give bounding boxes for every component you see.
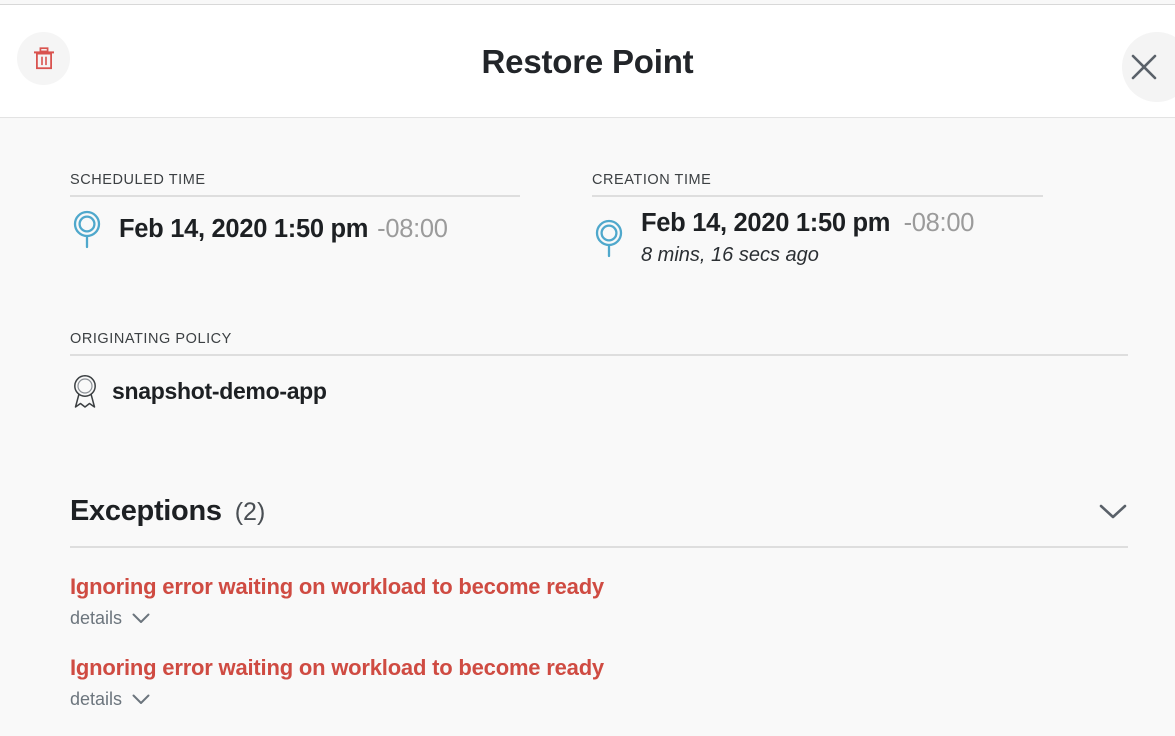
exception-details-label: details bbox=[70, 608, 122, 629]
exception-details-label: details bbox=[70, 689, 122, 710]
scheduled-time-value: Feb 14, 2020 1:50 pm bbox=[119, 215, 368, 244]
time-pin-icon bbox=[592, 218, 626, 258]
creation-time-label: CREATION TIME bbox=[592, 172, 1043, 195]
exception-details-toggle[interactable]: details bbox=[70, 689, 148, 710]
exception-item: Ignoring error waiting on workload to be… bbox=[70, 574, 1128, 629]
exception-item: Ignoring error waiting on workload to be… bbox=[70, 655, 1128, 710]
panel-body: SCHEDULED TIME Feb 14, 2020 1:50 pm -08:… bbox=[0, 119, 1175, 736]
chevron-down-icon[interactable] bbox=[1098, 503, 1128, 521]
chevron-down-icon bbox=[131, 693, 151, 706]
creation-time-value-row: Feb 14, 2020 1:50 pm -08:00 8 mins, 16 s… bbox=[592, 209, 1043, 267]
exceptions-header-toggle[interactable]: Exceptions (2) bbox=[70, 495, 1128, 546]
exception-details-toggle[interactable]: details bbox=[70, 608, 148, 629]
exceptions-title-wrap: Exceptions (2) bbox=[70, 495, 265, 528]
exception-message[interactable]: Ignoring error waiting on workload to be… bbox=[70, 574, 1128, 600]
scheduled-time-value-row: Feb 14, 2020 1:50 pm -08:00 bbox=[70, 209, 520, 249]
panel-header: Restore Point bbox=[0, 5, 1175, 118]
award-ribbon-icon bbox=[70, 373, 100, 409]
originating-policy-value-row: snapshot-demo-app bbox=[70, 373, 1128, 409]
exceptions-rule bbox=[70, 546, 1128, 548]
scheduled-time-label: SCHEDULED TIME bbox=[70, 172, 520, 195]
creation-time-field: CREATION TIME Feb 14, 2020 1:50 pm -08:0… bbox=[592, 172, 1043, 267]
scheduled-time-rule bbox=[70, 195, 520, 197]
creation-time-offset: -08:00 bbox=[904, 209, 975, 237]
restore-point-panel: Restore Point SCHEDULED TIME bbox=[0, 0, 1175, 736]
exceptions-count: (2) bbox=[235, 498, 266, 527]
chevron-down-icon bbox=[131, 612, 151, 625]
creation-time-relative: 8 mins, 16 secs ago bbox=[641, 244, 974, 267]
time-pin-icon bbox=[70, 209, 104, 249]
originating-policy-field: ORIGINATING POLICY snapshot-demo-app bbox=[70, 331, 1128, 409]
originating-policy-rule bbox=[70, 354, 1128, 356]
exceptions-section: Exceptions (2) Ignoring error waiting on… bbox=[70, 495, 1128, 710]
exception-message[interactable]: Ignoring error waiting on workload to be… bbox=[70, 655, 1128, 681]
scheduled-time-field: SCHEDULED TIME Feb 14, 2020 1:50 pm -08:… bbox=[70, 172, 520, 249]
originating-policy-name: snapshot-demo-app bbox=[112, 378, 327, 405]
page-title: Restore Point bbox=[0, 5, 1175, 118]
creation-time-value: Feb 14, 2020 1:50 pm bbox=[641, 209, 890, 237]
creation-time-rule bbox=[592, 195, 1043, 197]
originating-policy-label: ORIGINATING POLICY bbox=[70, 331, 1128, 354]
scheduled-time-offset: -08:00 bbox=[377, 215, 448, 244]
exceptions-title: Exceptions bbox=[70, 495, 222, 528]
close-icon bbox=[1129, 52, 1159, 82]
